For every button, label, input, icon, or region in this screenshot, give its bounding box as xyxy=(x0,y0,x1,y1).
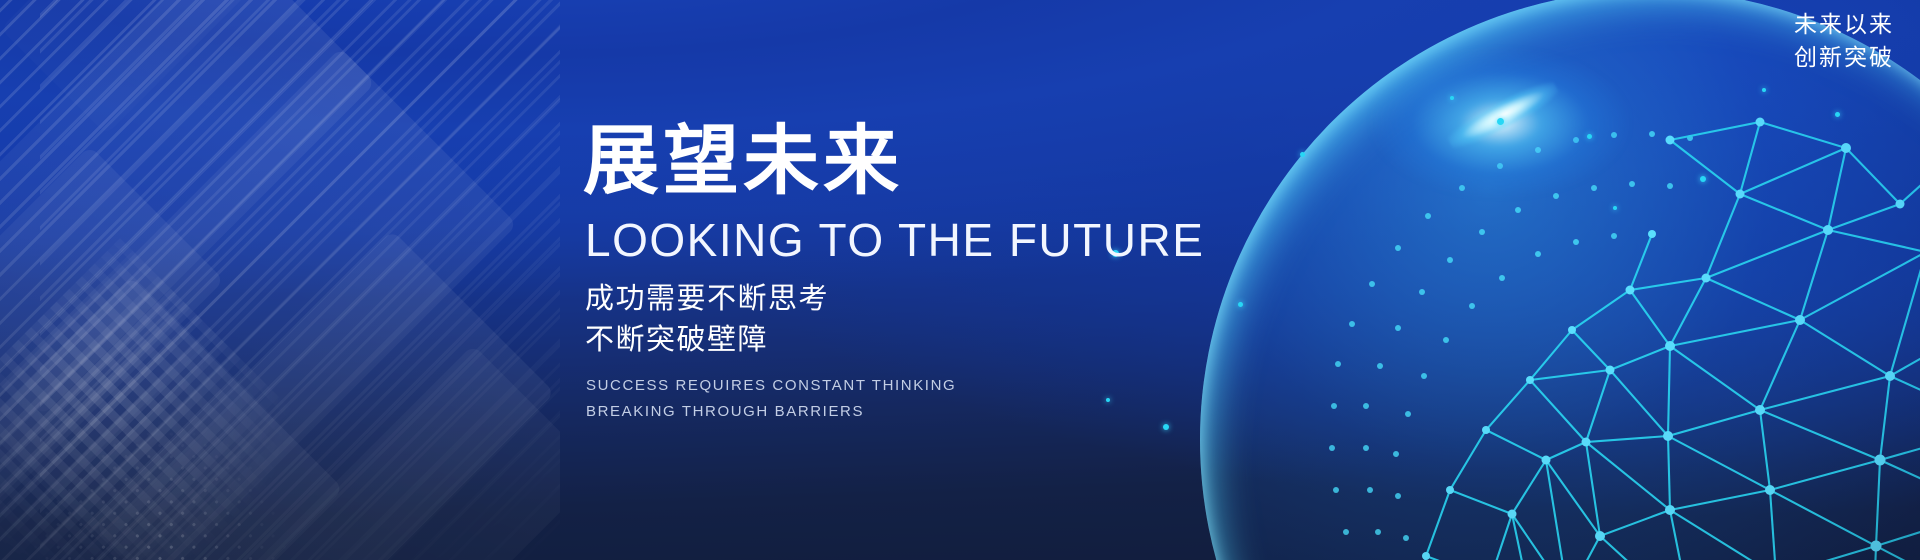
page-title-en: LOOKING TO THE FUTURE xyxy=(585,213,1283,267)
diagonal-stripes xyxy=(0,0,560,560)
subtitle-cn: 成功需要不断思考 不断突破壁障 xyxy=(585,279,1283,361)
headline-block: 展望未来 LOOKING TO THE FUTURE 成功需要不断思考 不断突破… xyxy=(583,122,1283,426)
corner-slogan: 未来以来 创新突破 xyxy=(1794,8,1894,73)
decor-slab xyxy=(0,0,339,135)
checker-dot-grid-secondary xyxy=(0,366,344,560)
decor-slab xyxy=(0,277,343,560)
network-globe xyxy=(1200,0,1920,560)
corner-slogan-line1: 未来以来 xyxy=(1794,8,1894,41)
decor-slab xyxy=(95,230,555,560)
decor-slab xyxy=(0,146,224,560)
checker-dot-grid xyxy=(0,238,332,560)
subtitle-en-line2: BREAKING THROUGH BARRIERS xyxy=(586,399,1283,425)
subtitle-en-line1: SUCCESS REQUIRES CONSTANT THINKING xyxy=(586,373,1283,399)
corner-slogan-line2: 创新突破 xyxy=(1794,41,1894,74)
particle-dot xyxy=(1300,152,1305,157)
particle-dot xyxy=(1700,176,1706,182)
particle-dot xyxy=(1762,88,1766,92)
decor-slab xyxy=(0,0,375,415)
globe-surface xyxy=(1200,0,1920,560)
page-title-cn: 展望未来 xyxy=(583,122,1283,203)
particle-dot xyxy=(1587,134,1592,139)
decor-slab xyxy=(0,48,517,560)
subtitle-cn-line2: 不断突破壁障 xyxy=(585,320,1283,361)
globe-rim-light xyxy=(1200,0,1920,560)
left-geometric-decoration xyxy=(0,0,560,560)
subtitle-cn-line1: 成功需要不断思考 xyxy=(585,279,1283,320)
globe-wireframe-icon xyxy=(1200,0,1920,560)
hero-banner: 展望未来 LOOKING TO THE FUTURE 成功需要不断思考 不断突破… xyxy=(0,0,1920,560)
particle-dot xyxy=(1497,118,1504,125)
particle-dot xyxy=(1450,96,1454,100)
globe-highlight-spark xyxy=(1444,75,1562,154)
diagonal-stripes-secondary xyxy=(40,0,560,560)
particle-dot xyxy=(1835,112,1840,117)
subtitle-en: SUCCESS REQUIRES CONSTANT THINKING BREAK… xyxy=(586,373,1283,426)
particle-dot xyxy=(1613,206,1617,210)
decor-slab xyxy=(240,345,560,560)
